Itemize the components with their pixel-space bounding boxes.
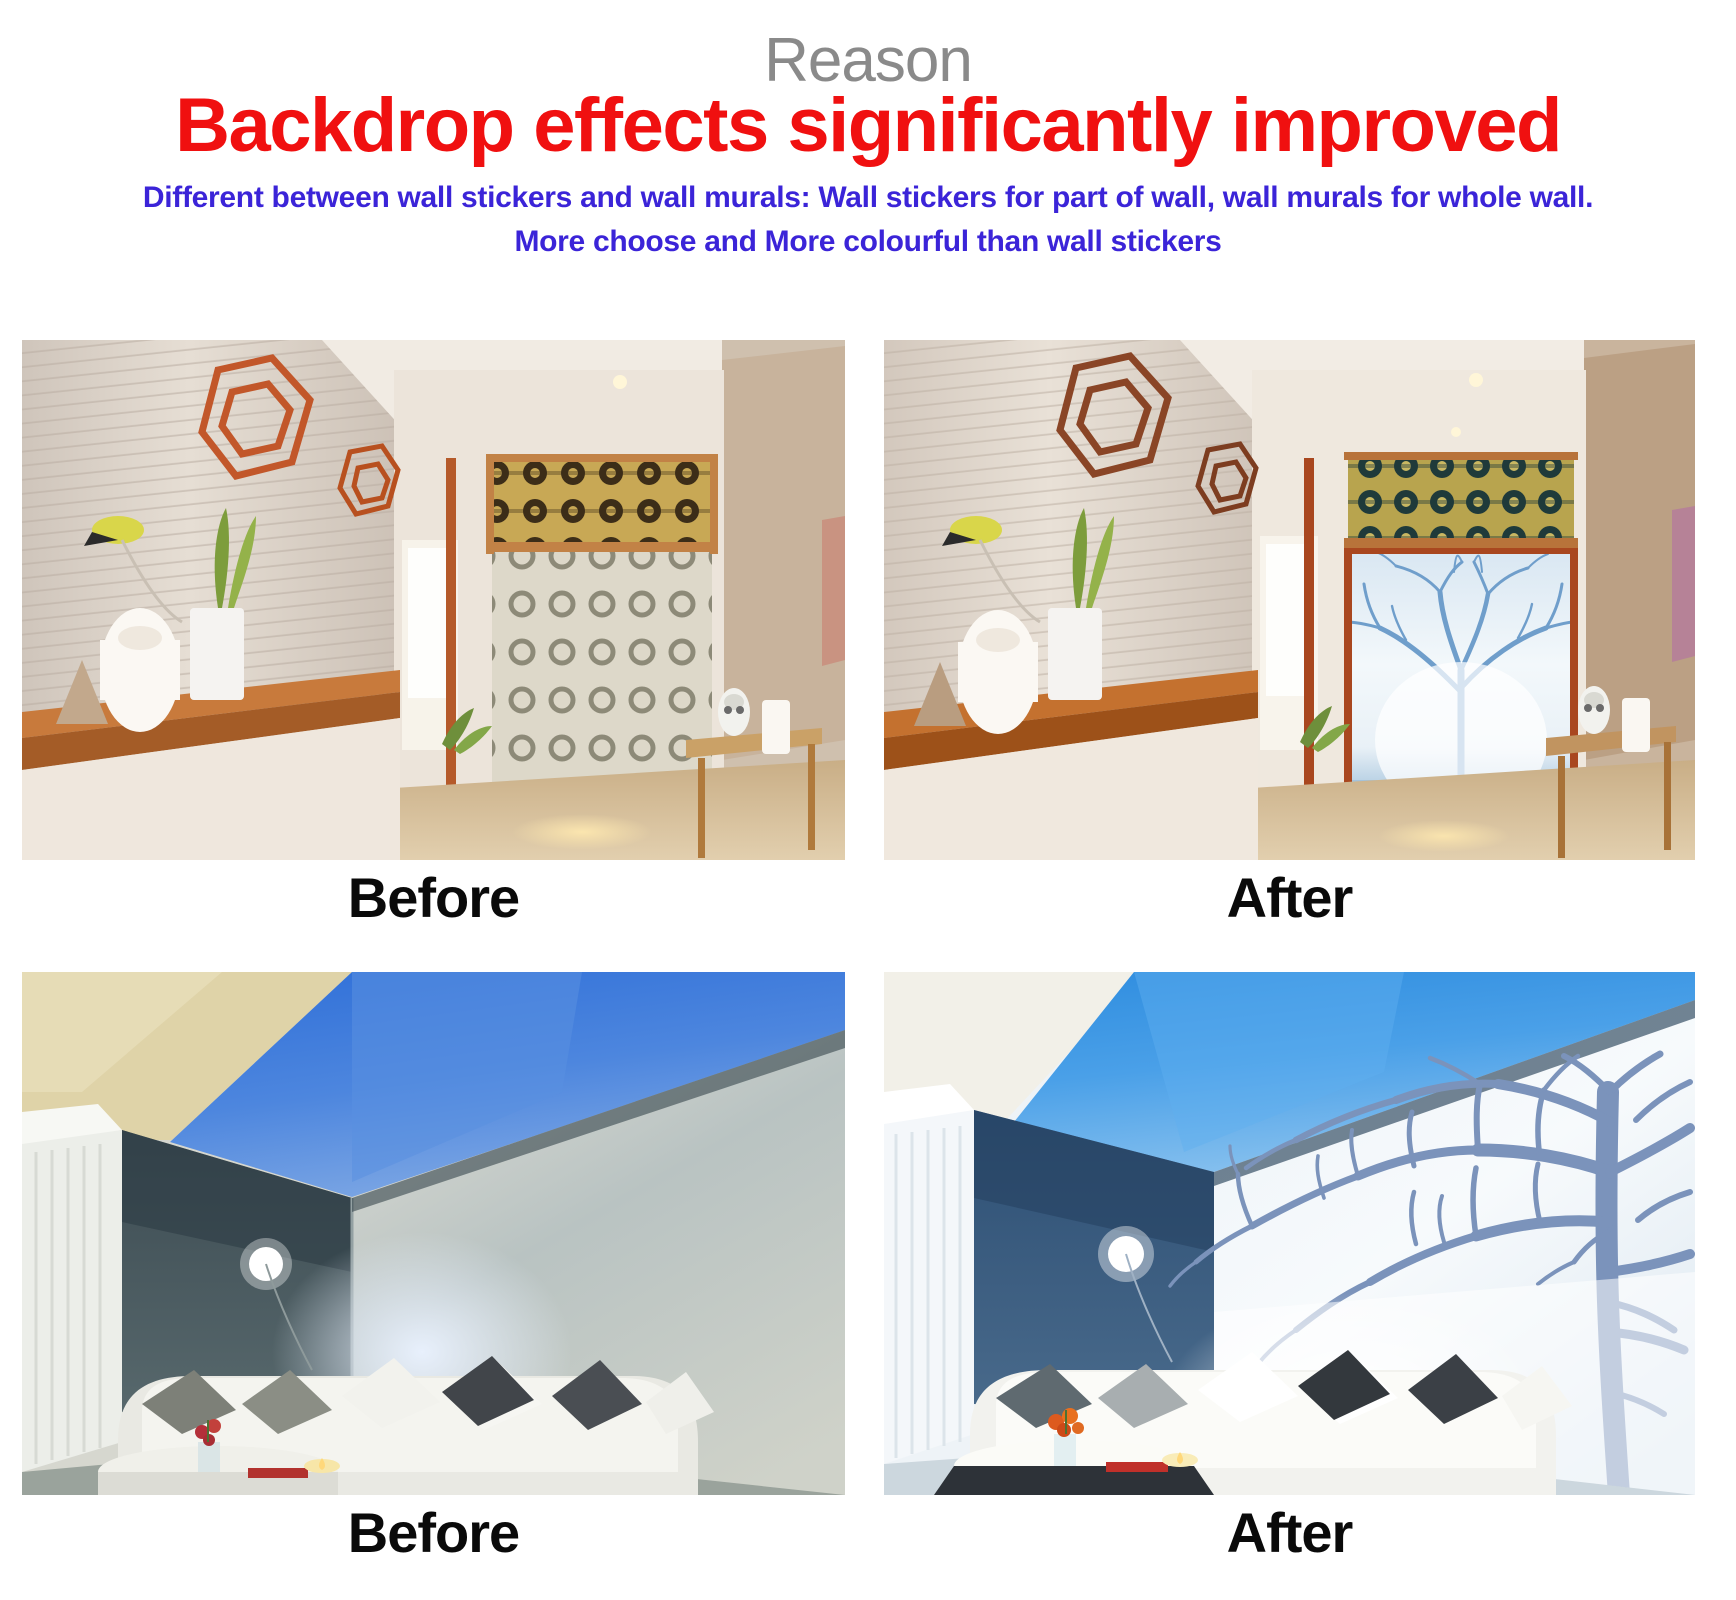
caption-livingroom-before: Before xyxy=(22,1505,845,1561)
page-title: Backdrop effects significantly improved xyxy=(0,88,1736,164)
caption-hallway-after: After xyxy=(884,870,1695,926)
header: Reason Backdrop effects significantly im… xyxy=(0,0,1736,263)
photo-livingroom-before xyxy=(22,972,845,1495)
subtitle-block: Different between wall stickers and wall… xyxy=(0,176,1736,263)
scene-livingroom-plain xyxy=(22,972,845,1495)
subtitle-line-1: Different between wall stickers and wall… xyxy=(0,176,1736,220)
scene-livingroom-mural xyxy=(884,972,1695,1495)
scene-hallway-mural xyxy=(884,340,1695,860)
photo-livingroom-after xyxy=(884,972,1695,1495)
subtitle-line-2: More choose and More colourful than wall… xyxy=(0,220,1736,264)
promo-page: Reason Backdrop effects significantly im… xyxy=(0,0,1736,1600)
eyebrow-title: Reason xyxy=(0,0,1736,92)
caption-livingroom-after: After xyxy=(884,1505,1695,1561)
photo-hallway-after xyxy=(884,340,1695,860)
caption-hallway-before: Before xyxy=(22,870,845,926)
photo-hallway-before xyxy=(22,340,845,860)
scene-hallway-plain xyxy=(22,340,845,860)
